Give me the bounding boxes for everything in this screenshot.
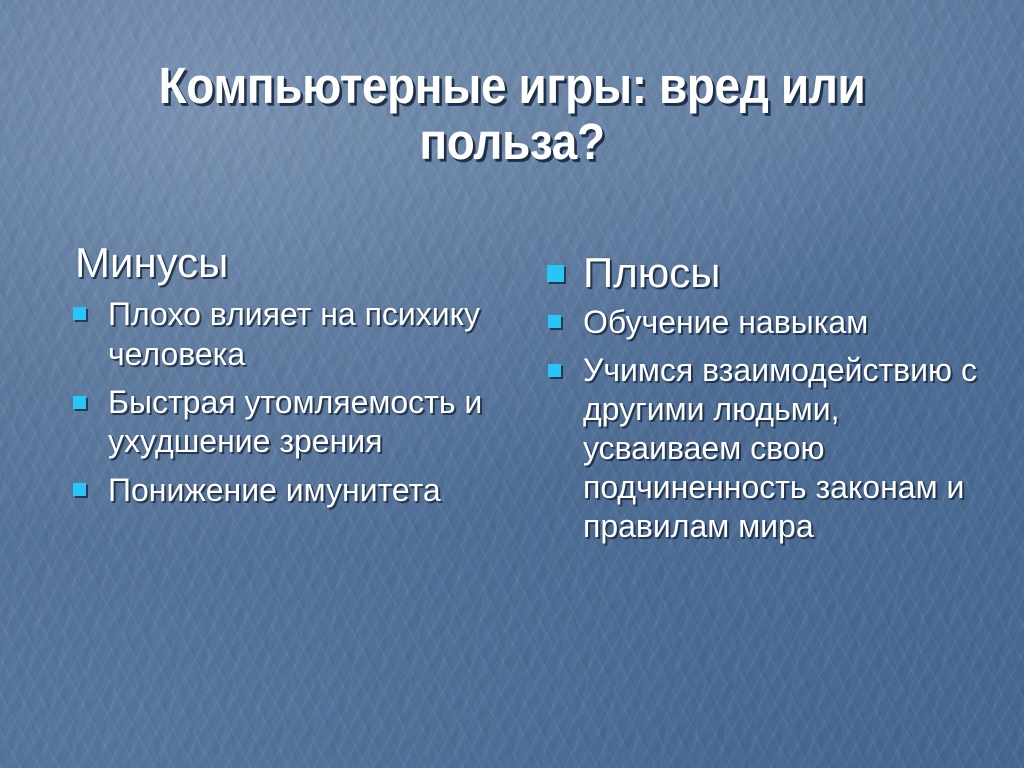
list-item[interactable]: Учимся взаимодействию с другими людьми, … xyxy=(537,351,985,546)
heading-minuses: Минусы xyxy=(62,238,492,288)
list-item[interactable]: Обучение навыкам xyxy=(537,302,985,342)
square-bullet-icon xyxy=(548,364,561,377)
column-pluses: Плюсы Обучение навыкам Учимся взаимодейс… xyxy=(537,248,985,555)
list-item-label: Понижение имунитета xyxy=(108,472,441,508)
heading-row-pluses[interactable]: Плюсы xyxy=(537,248,985,298)
list-item-label: Плохо влияет на психику человека xyxy=(108,296,480,372)
list-item-label: Учимся взаимодействию с другими людьми, … xyxy=(583,352,977,544)
bullet-list-pluses: Обучение навыкам Учимся взаимодействию с… xyxy=(537,302,985,546)
bullet-list-minuses: Плохо влияет на психику человека Быстрая… xyxy=(62,294,492,510)
square-bullet-icon xyxy=(73,483,86,496)
list-item-label: Обучение навыкам xyxy=(583,304,868,340)
column-minuses: Минусы Плохо влияет на психику человека … xyxy=(62,238,492,519)
slide-title: Компьютерные игры: вред или польза? xyxy=(96,58,928,170)
list-item[interactable]: Понижение имунитета xyxy=(62,470,492,510)
list-item-label: Быстрая утомляемость и ухудшение зрения xyxy=(108,384,482,459)
presentation-slide: Компьютерные игры: вред или польза? Мину… xyxy=(0,0,1024,768)
list-item[interactable]: Плохо влияет на психику человека xyxy=(62,294,492,374)
square-bullet-icon xyxy=(73,396,86,409)
list-item[interactable]: Быстрая утомляемость и ухудшение зрения xyxy=(62,383,492,461)
square-bullet-icon xyxy=(547,265,564,282)
square-bullet-icon xyxy=(73,307,86,320)
square-bullet-icon xyxy=(548,315,561,328)
heading-pluses: Плюсы xyxy=(583,248,985,298)
